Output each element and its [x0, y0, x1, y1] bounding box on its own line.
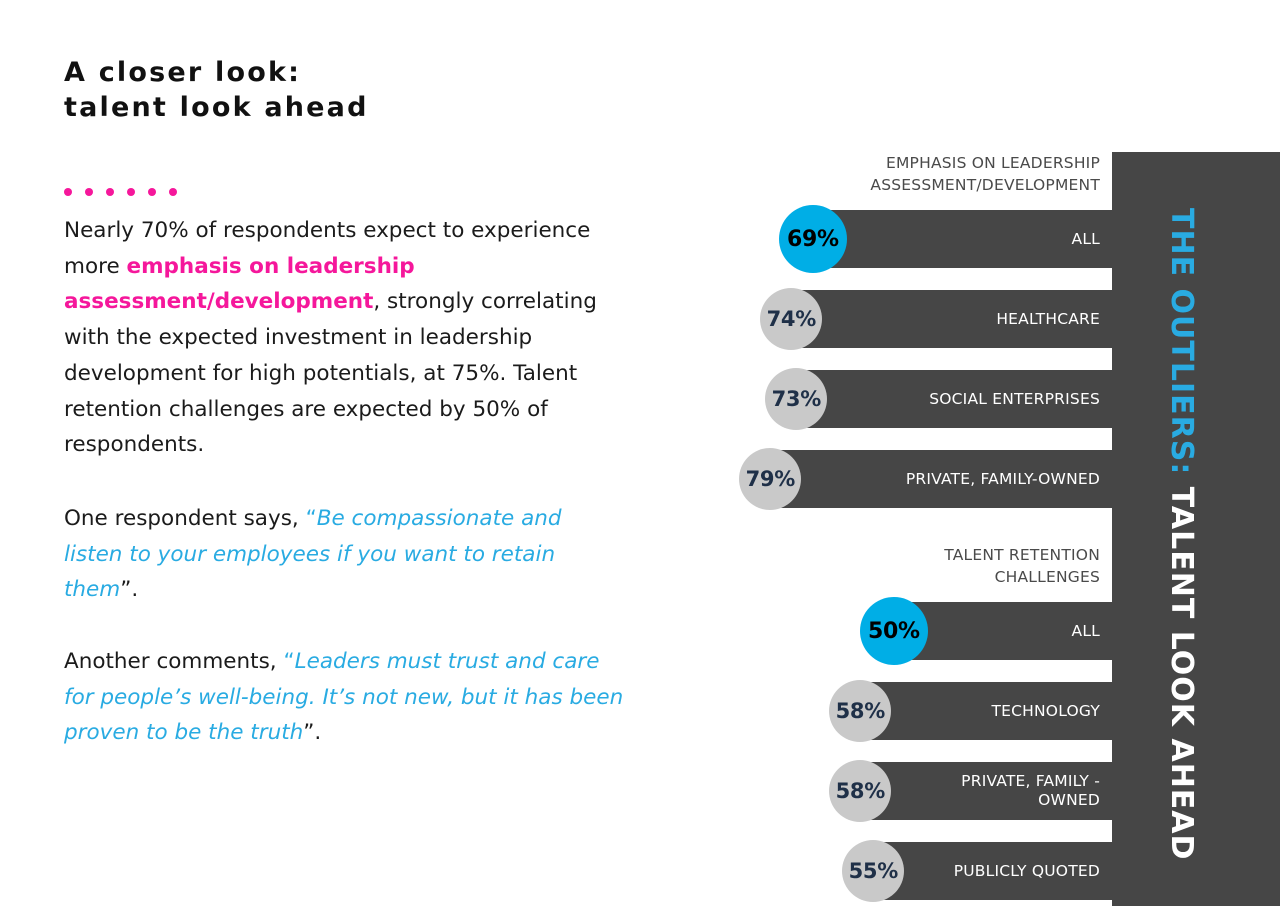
bar-value-bubble: 79% [739, 448, 801, 510]
side-banner-line-b: TALENT LOOK AHEAD [1164, 475, 1199, 860]
bar-row[interactable]: SOCIAL ENTERPRISES73% [800, 370, 1112, 428]
bar-fill: PRIVATE, FAMILY-OWNED [774, 450, 1112, 508]
decorative-dot [127, 188, 135, 196]
bar-row[interactable]: TECHNOLOGY58% [864, 682, 1112, 740]
decorative-dot [64, 188, 72, 196]
quote2-open-mark: “ [283, 649, 294, 674]
bar-row[interactable]: PRIVATE, FAMILY-OWNED79% [774, 450, 1112, 508]
bar-fill: ALL [817, 210, 1112, 268]
side-banner-title: THE OUTLIERS: TALENT LOOK AHEAD [1166, 208, 1196, 860]
quote2-close-mark: ”. [303, 720, 321, 745]
bar-row[interactable]: HEALTHCARE74% [795, 290, 1112, 348]
bar-fill: SOCIAL ENTERPRISES [800, 370, 1112, 428]
bar-label: TECHNOLOGY [991, 702, 1112, 721]
bar-label: PRIVATE, FAMILY - OWNED [961, 772, 1112, 810]
bar-chart-plot-area: EMPHASIS ON LEADERSHIP ASSESSMENT/DEVELO… [648, 152, 1112, 906]
intro-paragraph: Nearly 70% of respondents expect to expe… [64, 213, 624, 463]
bar-value-bubble: 55% [842, 840, 904, 902]
bar-value-bubble: 58% [829, 760, 891, 822]
bar-label: SOCIAL ENTERPRISES [929, 390, 1112, 409]
bar-row[interactable]: PUBLICLY QUOTED55% [877, 842, 1112, 900]
bar-fill: PUBLICLY QUOTED [877, 842, 1112, 900]
bar-value-bubble: 73% [765, 368, 827, 430]
quote1-close-mark: ”. [120, 577, 138, 602]
decorative-dot [106, 188, 114, 196]
bar-value-bubble: 69% [779, 205, 847, 273]
quote1-lead-in: One respondent says, [64, 506, 306, 531]
bar-row[interactable]: ALL50% [898, 602, 1112, 660]
intro-text-part2: , strongly correlating with the expected… [64, 289, 597, 457]
bar-row[interactable]: ALL69% [817, 210, 1112, 268]
quote-paragraph-1: One respondent says, “Be compassionate a… [64, 501, 624, 608]
decorative-dot [148, 188, 156, 196]
bar-fill: PRIVATE, FAMILY - OWNED [864, 762, 1112, 820]
bar-label: PUBLICLY QUOTED [954, 862, 1112, 881]
quote-paragraph-2: Another comments, “Leaders must trust an… [64, 644, 624, 751]
bar-group-header: EMPHASIS ON LEADERSHIP ASSESSMENT/DEVELO… [648, 152, 1112, 196]
bar-label: PRIVATE, FAMILY-OWNED [906, 470, 1112, 489]
page-title: A closer look: talent look ahead [64, 56, 644, 125]
decorative-dot-row [64, 187, 644, 197]
bar-label: HEALTHCARE [996, 310, 1112, 329]
bar-value-bubble: 74% [760, 288, 822, 350]
bar-fill: TECHNOLOGY [864, 682, 1112, 740]
left-content-column: A closer look: talent look ahead Nearly … [64, 56, 644, 751]
bar-value-bubble: 50% [860, 597, 928, 665]
bar-value-bubble: 58% [829, 680, 891, 742]
quote2-lead-in: Another comments, [64, 649, 283, 674]
side-banner: THE OUTLIERS: TALENT LOOK AHEAD [1112, 152, 1280, 906]
quote1-open-mark: “ [306, 506, 317, 531]
bar-group-header: TALENT RETENTION CHALLENGES [648, 544, 1112, 588]
bar-label: ALL [1072, 622, 1112, 641]
bar-label: ALL [1072, 230, 1112, 249]
decorative-dot [85, 188, 93, 196]
bar-fill: HEALTHCARE [795, 290, 1112, 348]
decorative-dot [169, 188, 177, 196]
bar-row[interactable]: PRIVATE, FAMILY - OWNED58% [864, 762, 1112, 820]
bar-fill: ALL [898, 602, 1112, 660]
side-banner-line-a: THE OUTLIERS: [1164, 208, 1199, 475]
